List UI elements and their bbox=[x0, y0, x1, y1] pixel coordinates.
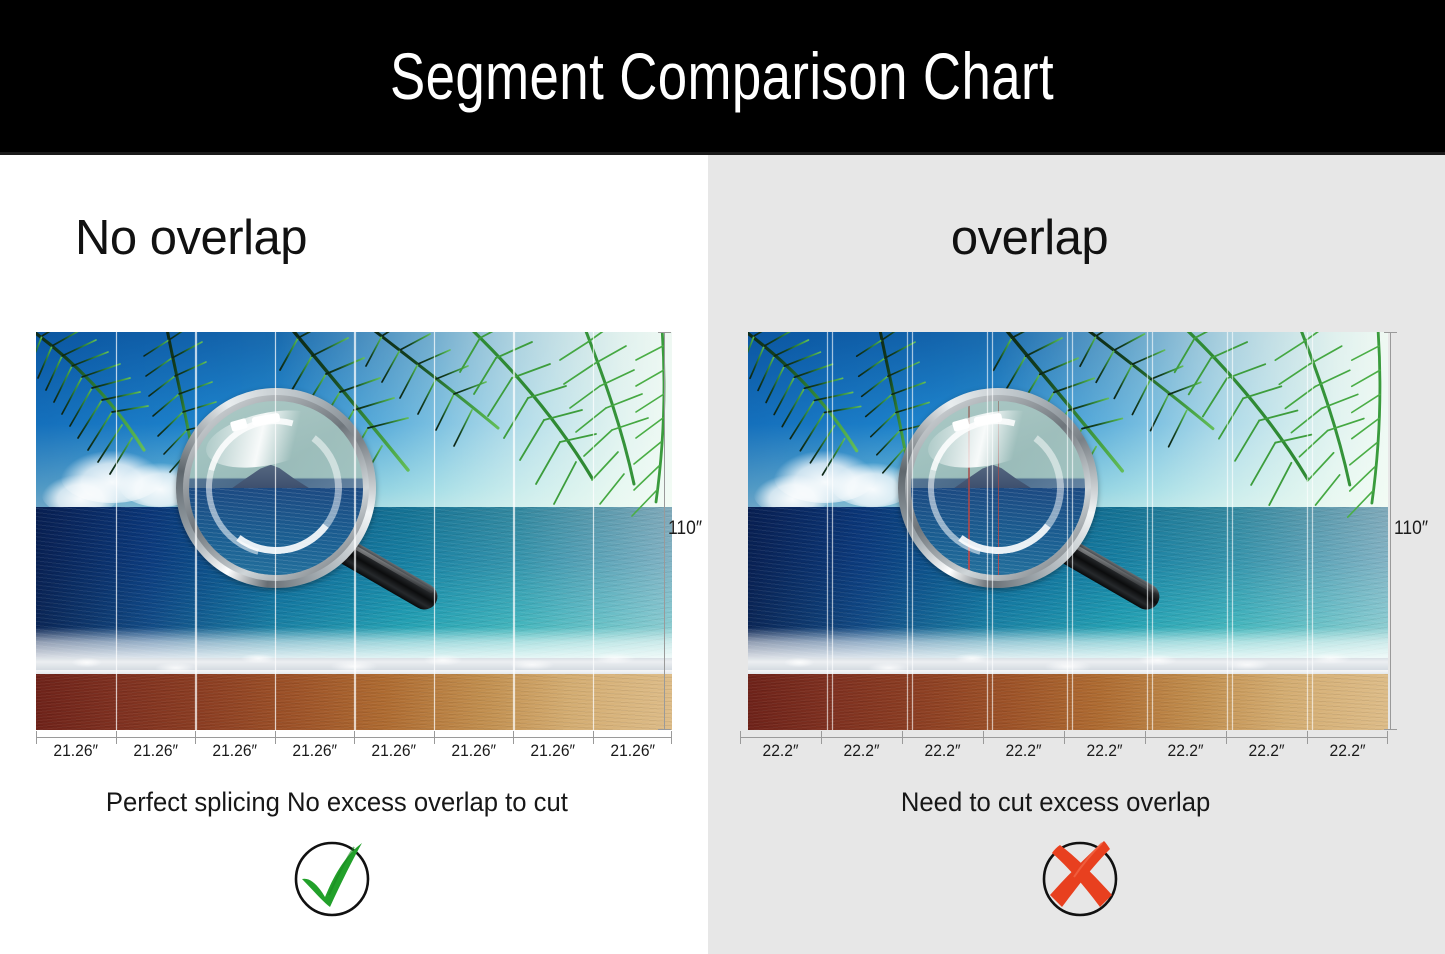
segment-divider bbox=[907, 332, 909, 730]
segment-divider bbox=[1227, 332, 1229, 730]
segment-divider bbox=[195, 332, 197, 730]
panel-overlap: overlap bbox=[708, 155, 1445, 954]
cross-icon bbox=[1038, 835, 1122, 919]
panel-caption-overlap: Need to cut excess overlap bbox=[726, 787, 1426, 818]
height-dimension-tick-bottom bbox=[658, 729, 671, 730]
segment-label-row: 22.2″ 22.2″ 22.2″ 22.2″ 22.2″ 22.2″ 22.2… bbox=[740, 741, 1388, 761]
mural-no-overlap bbox=[36, 332, 672, 730]
segment-label: 21.26″ bbox=[357, 741, 430, 761]
segment-divider-overlap bbox=[912, 332, 914, 730]
segment-label: 21.26″ bbox=[437, 741, 510, 761]
mural-overlap bbox=[748, 332, 1388, 730]
segment-divider-overlap bbox=[1152, 332, 1154, 730]
segment-label-row: 21.26″ 21.26″ 21.26″ 21.26″ 21.26″ 21.26… bbox=[36, 741, 672, 761]
segment-label: 22.2″ bbox=[824, 741, 899, 761]
check-icon bbox=[292, 835, 376, 919]
segment-divider bbox=[275, 332, 277, 730]
height-dimension-tick-top bbox=[1384, 332, 1397, 333]
page-title: Segment Comparison Chart bbox=[390, 38, 1054, 114]
height-dimension-tick-bottom bbox=[1384, 729, 1397, 730]
segment-divider bbox=[513, 332, 515, 730]
segment-divider bbox=[116, 332, 118, 730]
segment-label: 22.2″ bbox=[1229, 741, 1304, 761]
mural-image bbox=[748, 332, 1388, 730]
height-dimension-tick-top bbox=[658, 332, 671, 333]
segment-label: 21.26″ bbox=[516, 741, 589, 761]
panel-heading-no-overlap: No overlap bbox=[0, 210, 708, 266]
segment-label: 22.2″ bbox=[1148, 741, 1223, 761]
segment-divider-overlap bbox=[1312, 332, 1314, 730]
height-dimension-line bbox=[1390, 332, 1391, 730]
segment-divider bbox=[827, 332, 829, 730]
segment-divider-overlap bbox=[1072, 332, 1074, 730]
segment-divider-overlap bbox=[992, 332, 994, 730]
segment-divider-overlap bbox=[832, 332, 834, 730]
segment-label: 22.2″ bbox=[905, 741, 980, 761]
segment-divider bbox=[434, 332, 436, 730]
segment-divider-overlap bbox=[1232, 332, 1234, 730]
header-bar: Segment Comparison Chart bbox=[0, 0, 1445, 152]
segment-divider-lines bbox=[36, 332, 672, 730]
height-label: 110″ bbox=[668, 518, 702, 540]
segment-label: 21.26″ bbox=[39, 741, 112, 761]
panel-no-overlap: No overlap bbox=[0, 155, 708, 954]
segment-divider bbox=[593, 332, 595, 730]
segment-label: 21.26″ bbox=[278, 741, 351, 761]
segment-label: 22.2″ bbox=[743, 741, 818, 761]
segment-divider bbox=[354, 332, 356, 730]
panel-heading-overlap: overlap bbox=[708, 210, 1445, 266]
mural-image bbox=[36, 332, 672, 730]
segment-divider bbox=[1307, 332, 1309, 730]
panel-caption-no-overlap: Perfect splicing No excess overlap to cu… bbox=[18, 787, 691, 818]
segment-divider bbox=[1147, 332, 1149, 730]
segment-divider-lines bbox=[748, 332, 1388, 730]
segment-label: 21.26″ bbox=[596, 741, 669, 761]
segment-label: 22.2″ bbox=[1310, 741, 1385, 761]
segment-divider bbox=[987, 332, 989, 730]
segment-label: 22.2″ bbox=[1067, 741, 1142, 761]
height-label: 110″ bbox=[1394, 518, 1428, 540]
segment-label: 21.26″ bbox=[119, 741, 192, 761]
segment-label: 21.26″ bbox=[198, 741, 271, 761]
segment-label: 22.2″ bbox=[986, 741, 1061, 761]
segment-divider bbox=[1067, 332, 1069, 730]
height-dimension-line bbox=[664, 332, 665, 730]
